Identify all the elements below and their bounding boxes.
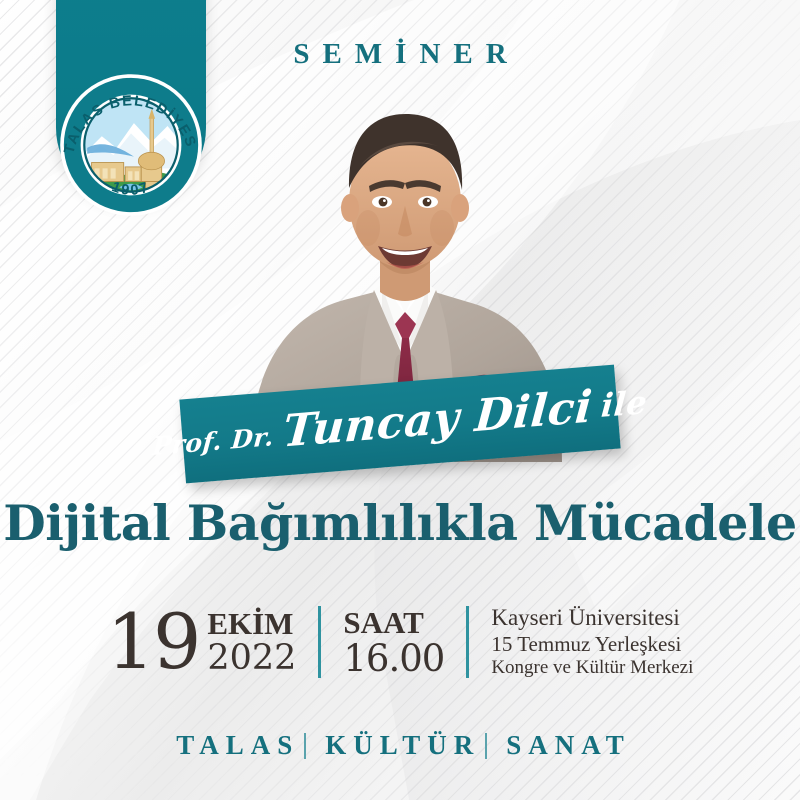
time-block: SAAT 16.00 — [343, 604, 444, 680]
divider-2 — [466, 606, 469, 678]
event-day: 19 — [107, 604, 200, 680]
footer-segment-sanat: SANAT — [499, 730, 631, 761]
footer-segment-kultur: KÜLTÜR — [318, 730, 480, 761]
venue-line-3: Kongre ve Kültür Merkezi — [491, 657, 693, 679]
footer-divider-1 — [304, 733, 306, 759]
time-label: SAAT — [343, 607, 444, 638]
poster-title: Dijital Bağımlılıkla Mücadele — [0, 494, 800, 552]
event-details-row: 19 EKİM 2022 SAAT 16.00 Kayseri Üniversi… — [0, 604, 800, 680]
speaker-name-suffix: ile — [600, 383, 649, 425]
event-time: 16.00 — [343, 640, 444, 677]
month-year-stack: EKİM 2022 — [207, 608, 296, 676]
date-block: 19 EKİM 2022 — [107, 604, 297, 680]
speaker-name: Tuncay Dilci — [281, 381, 594, 457]
time-stack: SAAT 16.00 — [343, 607, 444, 677]
venue-block: Kayseri Üniversitesi 15 Temmuz Yerleşkes… — [491, 604, 693, 680]
event-month: EKİM — [207, 608, 296, 639]
event-year: 2022 — [207, 641, 296, 676]
venue-line-2: 15 Temmuz Yerleşkesi — [491, 632, 693, 657]
divider-1 — [318, 606, 321, 678]
footer-segment-talas: TALAS — [169, 730, 299, 761]
venue-line-1: Kayseri Üniversitesi — [491, 605, 693, 632]
talas-belediyesi-logo: TALAS BELEDİYESİ 1907 — [58, 72, 204, 218]
event-poster: TALAS BELEDİYESİ 1907 SEMİNER — [0, 0, 800, 800]
poster-footer: TALAS KÜLTÜR SANAT — [0, 730, 800, 761]
footer-divider-2 — [485, 733, 487, 759]
poster-eyebrow: SEMİNER — [0, 38, 800, 71]
